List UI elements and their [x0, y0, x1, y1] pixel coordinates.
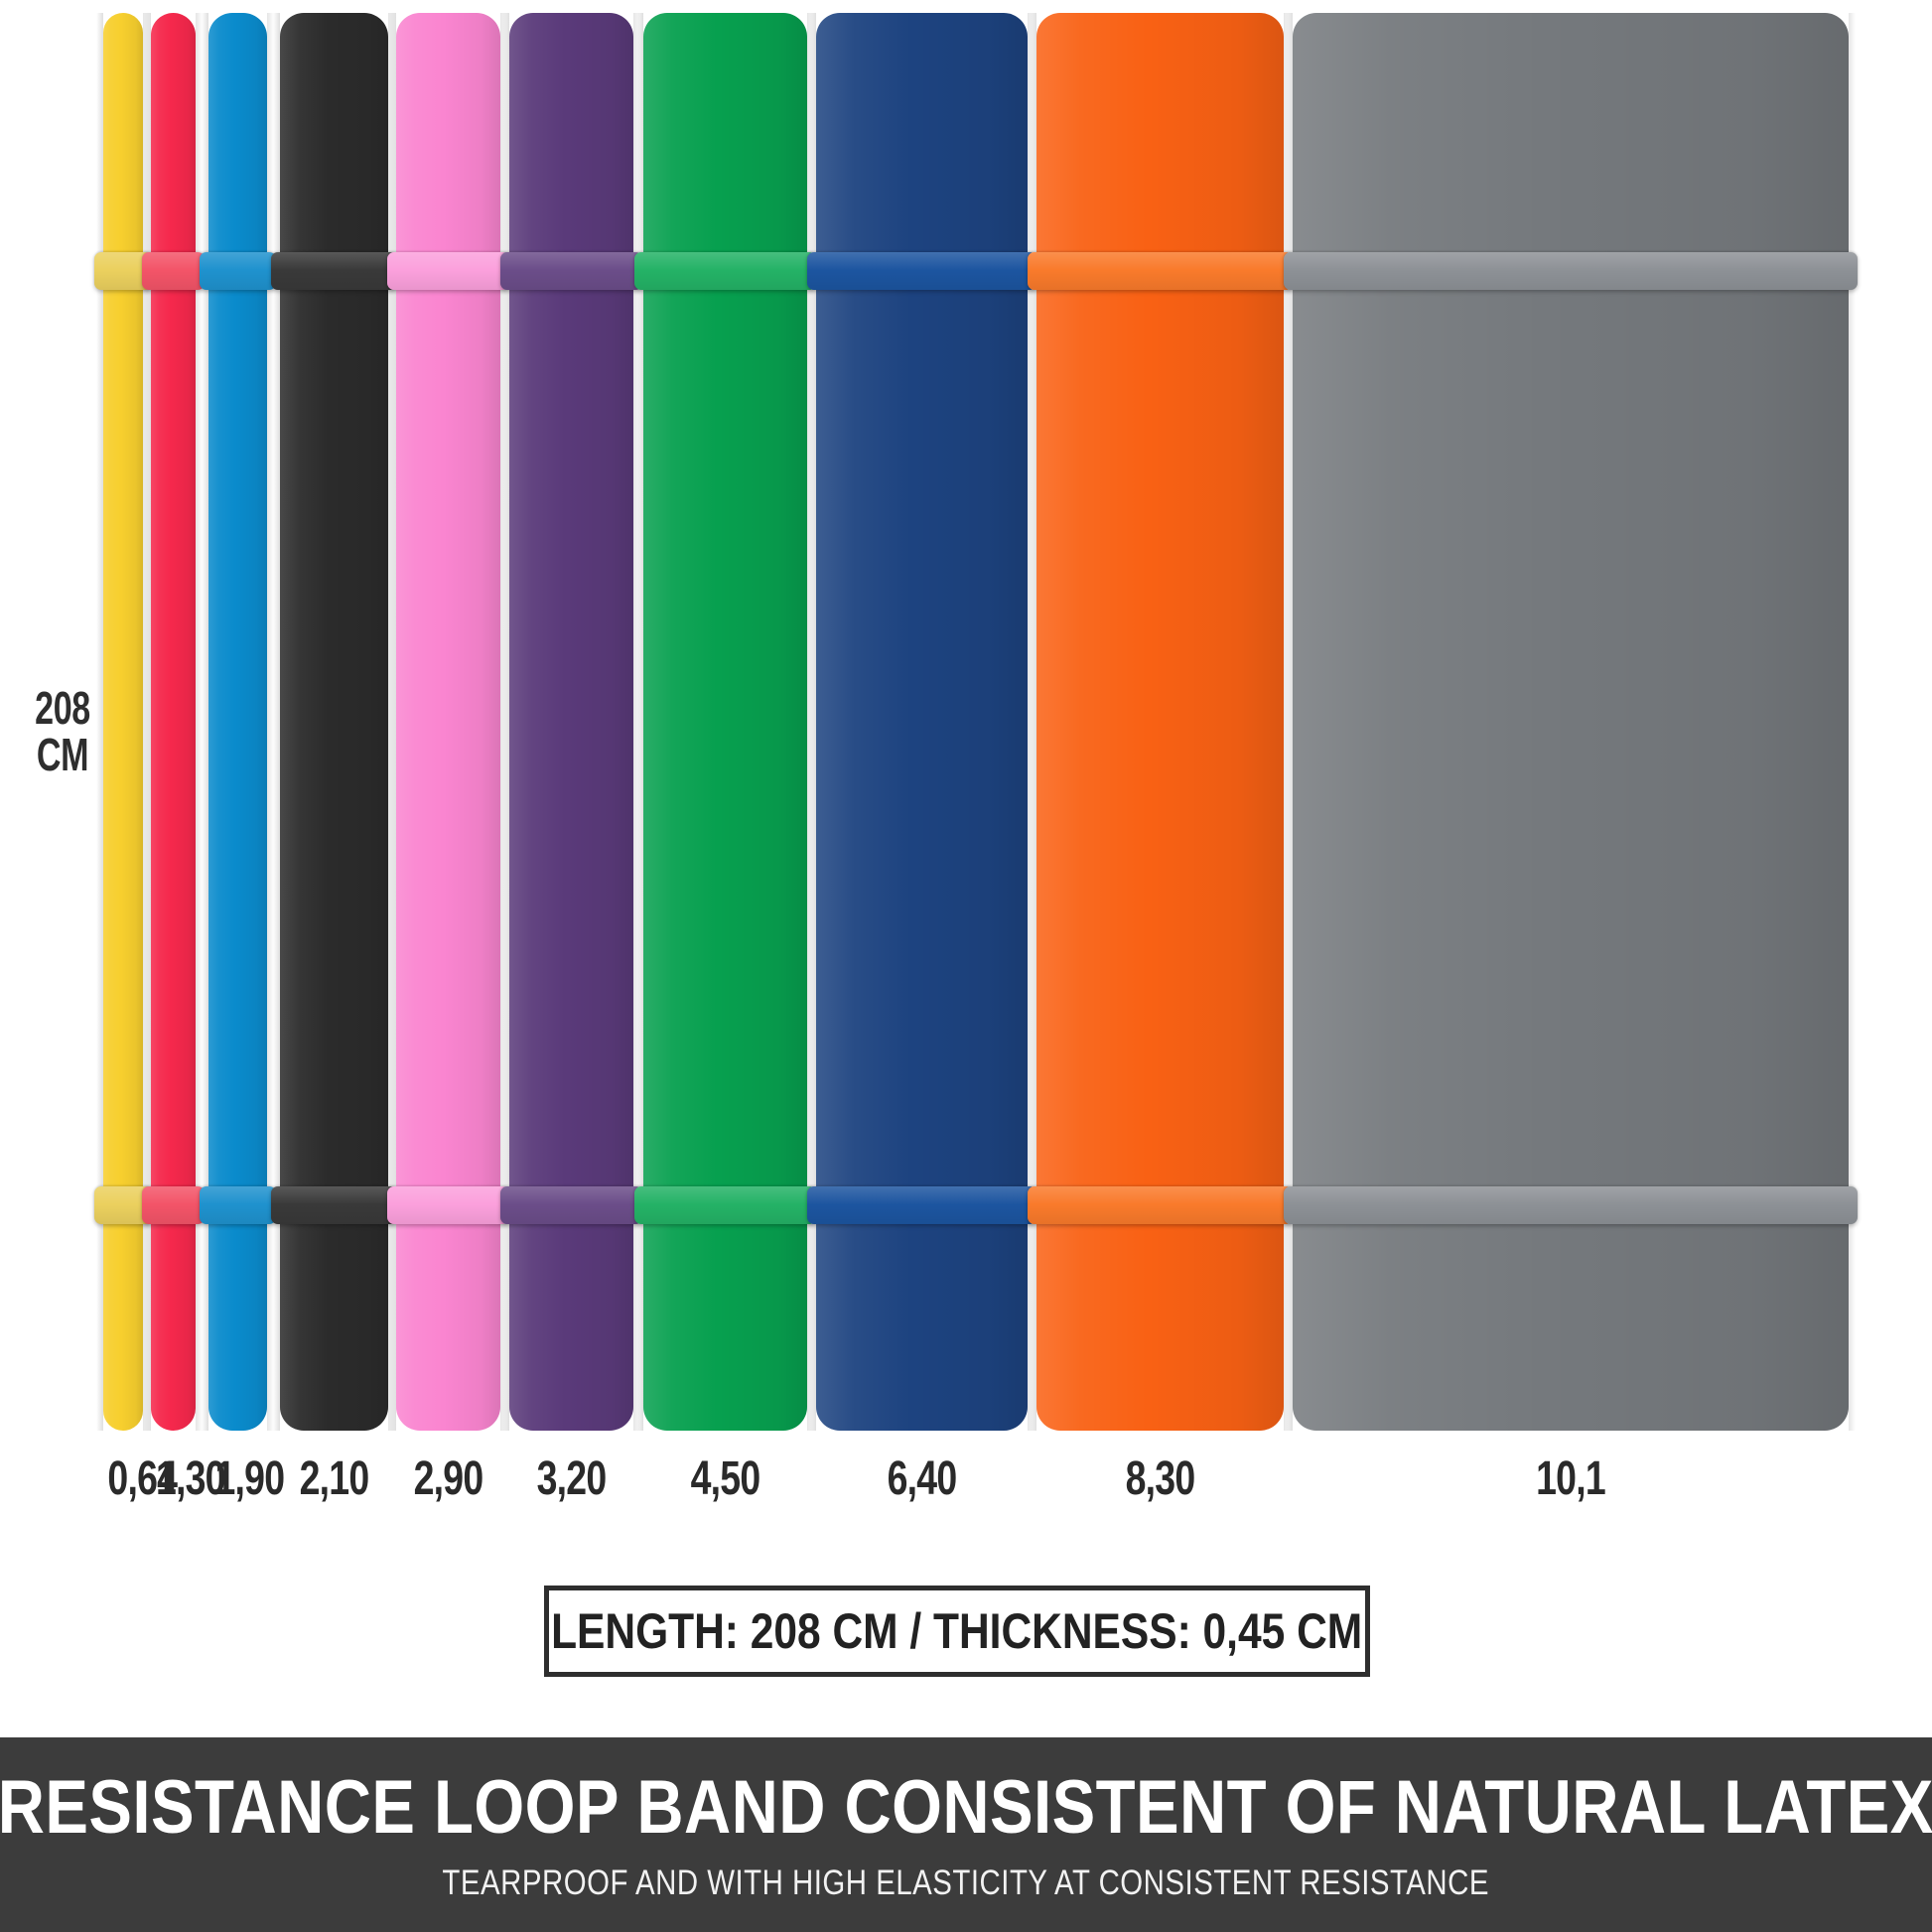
thickness-label-red: 1,30 — [156, 1455, 191, 1503]
resistance-band-blue — [208, 13, 267, 1431]
band-wrap-top — [200, 252, 276, 290]
bottom-banner: RESISTANCE LOOP BAND CONSISTENT OF NATUR… — [0, 1737, 1932, 1932]
banner-subline: TEARPROOF AND WITH HIGH ELASTICITY AT CO… — [443, 1865, 1490, 1900]
thickness-label-pink: 2,90 — [408, 1455, 489, 1503]
band-wrap-top — [387, 252, 509, 290]
band-wrap-top — [500, 252, 642, 290]
band-wrap-sheen — [807, 252, 1036, 290]
resistance-band-orange — [1036, 13, 1284, 1431]
band-wrap-sheen — [200, 1186, 276, 1224]
thickness-label-yellow: 0,64 — [107, 1455, 138, 1503]
thickness-label-purple: 3,20 — [523, 1455, 621, 1503]
band-wrap-top — [1028, 252, 1293, 290]
band-wrap-bottom — [387, 1186, 509, 1224]
band-wrap-sheen — [1284, 1186, 1858, 1224]
thickness-label-green: 4,50 — [661, 1455, 789, 1503]
length-annotation: 208 CM — [30, 685, 96, 778]
band-wrap-sheen — [634, 1186, 816, 1224]
band-wrap-sheen — [1028, 252, 1293, 290]
band-wrap-bottom — [200, 1186, 276, 1224]
resistance-band-grey — [1293, 13, 1849, 1431]
resistance-band-black — [280, 13, 388, 1431]
band-wrap-bottom — [500, 1186, 642, 1224]
resistance-band-yellow — [103, 13, 143, 1431]
band-wrap-sheen — [271, 1186, 397, 1224]
resistance-band-green — [643, 13, 807, 1431]
thickness-label-grey: 10,1 — [1354, 1455, 1788, 1503]
band-wrap-sheen — [500, 1186, 642, 1224]
band-wrap-sheen — [200, 252, 276, 290]
band-wrap-sheen — [1284, 252, 1858, 290]
band-wrap-top — [142, 252, 205, 290]
band-wrap-bottom — [634, 1186, 816, 1224]
band-wrap-sheen — [387, 252, 509, 290]
length-value: 208 — [30, 685, 96, 732]
band-wrap-bottom — [1284, 1186, 1858, 1224]
band-wrap-bottom — [1028, 1186, 1293, 1224]
band-wrap-top — [1284, 252, 1858, 290]
specification-box: LENGTH: 208 CM / THICKNESS: 0,45 CM — [544, 1586, 1370, 1677]
infographic-canvas: 208 CM 0,641,301,902,102,903,204,506,408… — [0, 0, 1932, 1932]
band-wrap-sheen — [1028, 1186, 1293, 1224]
band-wrap-sheen — [387, 1186, 509, 1224]
length-unit: CM — [30, 732, 96, 778]
band-wrap-sheen — [807, 1186, 1036, 1224]
thickness-label-blue: 1,90 — [214, 1455, 260, 1503]
band-wrap-sheen — [142, 1186, 205, 1224]
band-wrap-sheen — [500, 252, 642, 290]
band-wrap-sheen — [634, 252, 816, 290]
banner-headline: RESISTANCE LOOP BAND CONSISTENT OF NATUR… — [0, 1770, 1932, 1846]
resistance-band-navy — [816, 13, 1028, 1431]
band-wrap-top — [271, 252, 397, 290]
thickness-label-navy: 6,40 — [839, 1455, 1004, 1503]
specification-text: LENGTH: 208 CM / THICKNESS: 0,45 CM — [551, 1602, 1362, 1660]
thickness-label-black: 2,10 — [292, 1455, 376, 1503]
band-wrap-top — [807, 252, 1036, 290]
resistance-band-purple — [509, 13, 633, 1431]
band-wrap-sheen — [142, 252, 205, 290]
band-wrap-top — [634, 252, 816, 290]
thickness-label-orange: 8,30 — [1063, 1455, 1256, 1503]
band-wrap-bottom — [271, 1186, 397, 1224]
band-wrap-bottom — [142, 1186, 205, 1224]
band-wrap-bottom — [807, 1186, 1036, 1224]
resistance-band-red — [151, 13, 196, 1431]
band-wrap-sheen — [271, 252, 397, 290]
resistance-band-pink — [396, 13, 500, 1431]
